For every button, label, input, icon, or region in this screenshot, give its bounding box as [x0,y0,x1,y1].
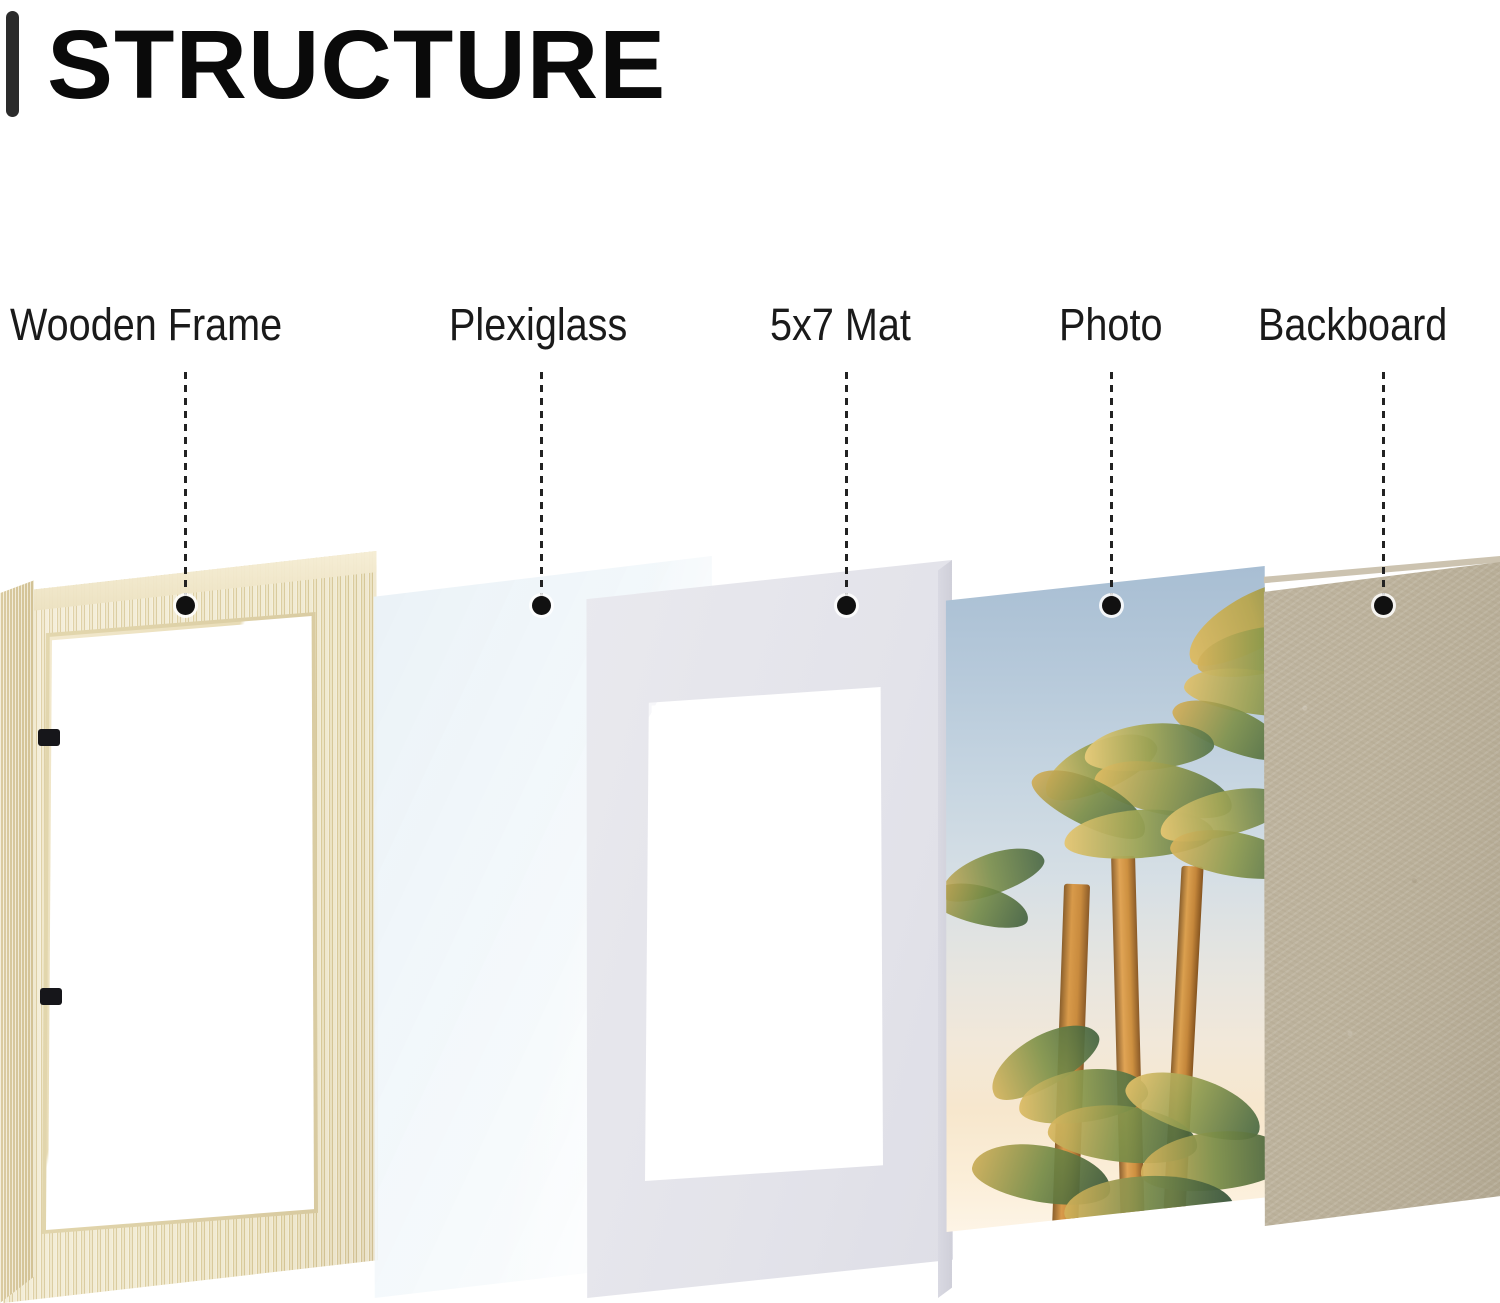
layer-label-wooden-frame: Wooden Frame [10,302,282,347]
layer-label-photo: Photo [1059,302,1162,347]
leader-dot-photo [1102,596,1121,615]
frame-left-side-edge [0,551,34,1303]
infographic-canvas: STRUCTURE Wooden Frame Plexiglass 5x7 Ma… [0,0,1500,1303]
leader-line-photo [1110,372,1113,606]
leader-line-backboard [1382,372,1385,606]
leader-dot-wooden-frame [176,596,195,615]
title-accent-bar [6,11,19,117]
layer-backboard [1262,562,1500,1226]
layer-label-plexiglass: Plexiglass [449,302,627,347]
leader-dot-backboard [1374,596,1393,615]
leader-dot-plexiglass [532,596,551,615]
page-header: STRUCTURE [0,8,654,120]
frame-clip-upper [38,729,60,746]
frame-window-opening [48,619,312,1227]
leader-dot-mat [837,596,856,615]
layer-label-backboard: Backboard [1258,302,1447,347]
page-title: STRUCTURE [47,16,666,113]
leader-line-plexiglass [540,372,543,606]
mat-window-opening [648,690,880,1178]
layer-label-mat: 5x7 Mat [770,302,911,347]
leader-line-wooden-frame [184,372,187,606]
layer-photo [944,566,1266,1232]
photo-scene-palm-trees [944,566,1266,1232]
leader-line-mat [845,372,848,606]
frame-clip-lower [40,988,62,1005]
